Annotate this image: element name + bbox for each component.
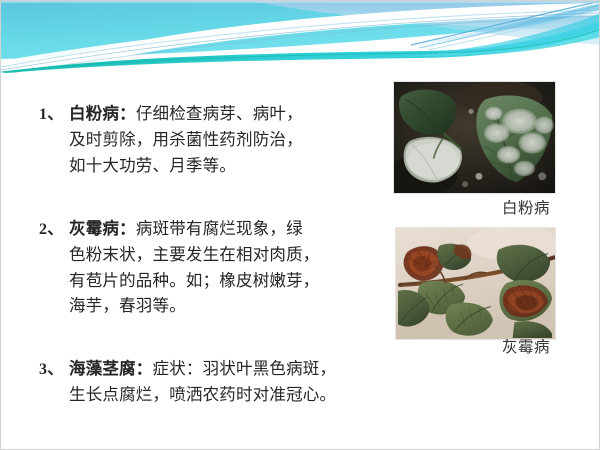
decorative-wave-banner [1,1,600,73]
bullet-number-1: 1、 [39,102,69,128]
gray-mold-caption: 灰霉病 [466,338,586,358]
bullet-term-1: 白粉病： [69,104,136,123]
bullet-1-line-1: 仔细检查病芽、病叶， [136,104,303,123]
slide-body: 1、白粉病：仔细检查病芽、病叶， 及时剪除，用杀菌性药剂防治， 如十大功劳、月季… [1,73,600,450]
bullet-2-line-3: 有苞片的品种。如；橡皮树嫩芽， [39,268,384,294]
bullet-2-line-4: 海芋，春羽等。 [39,293,384,319]
bullet-term-3: 海藻茎腐： [69,359,153,378]
powdery-mildew-photo [393,81,556,194]
bullet-3-line-1: 症状：羽状叶黑色病斑， [153,359,337,378]
bullet-term-2: 灰霉病： [69,219,136,238]
powdery-mildew-caption: 白粉病 [466,199,586,219]
presentation-slide: 1、白粉病：仔细检查病芽、病叶， 及时剪除，用杀菌性药剂防治， 如十大功劳、月季… [0,0,600,450]
gray-mold-image [396,228,555,339]
bullet-number-3: 3、 [39,357,69,383]
gray-mold-photo [395,227,556,340]
bullet-3-line-2: 生长点腐烂，喷洒农药时对准冠心。 [39,382,384,408]
bullet-1-line-2: 及时剪除，用杀菌性药剂防治， [39,127,384,153]
bullet-2-line-2: 色粉末状，主要发生在相对肉质， [39,242,384,268]
bullet-1-line-3: 如十大功劳、月季等。 [39,153,384,179]
bullet-item-3: 3、海藻茎腐：症状：羽状叶黑色病斑， 生长点腐烂，喷洒农药时对准冠心。 [39,356,384,408]
wave-graphic [1,1,600,73]
bullet-number-2: 2、 [39,217,69,243]
powdery-mildew-image [394,82,555,193]
bullet-2-line-1: 病斑带有腐烂现象，绿 [136,219,303,238]
bullet-item-2: 2、灰霉病：病斑带有腐烂现象，绿 色粉末状，主要发生在相对肉质， 有苞片的品种。… [39,216,384,319]
bullet-item-1: 1、白粉病：仔细检查病芽、病叶， 及时剪除，用杀菌性药剂防治， 如十大功劳、月季… [39,101,384,179]
